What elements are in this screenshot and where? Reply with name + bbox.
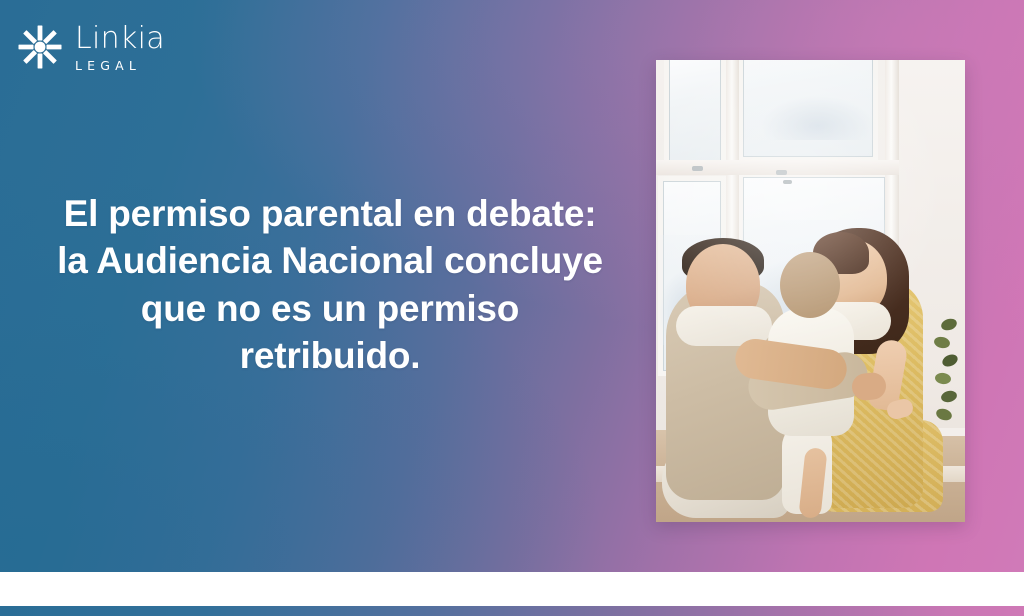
window-handle-c xyxy=(783,180,792,184)
child-head xyxy=(780,252,840,318)
family-photo-content xyxy=(656,60,965,522)
window-handle-a xyxy=(692,166,703,171)
window-pane-top-middle xyxy=(738,60,878,162)
brand-tagline: LEGAL xyxy=(75,60,165,73)
white-separator-band xyxy=(0,572,1024,606)
brand-wordmark: Linkia LEGAL xyxy=(75,22,165,73)
asterisk-starburst-icon xyxy=(18,25,62,69)
bottom-gradient-strip xyxy=(0,606,1024,616)
brand-name: Linkia xyxy=(75,24,165,54)
brand-logo[interactable]: Linkia LEGAL xyxy=(18,22,165,73)
social-card: Linkia LEGAL El permiso parental en deba… xyxy=(0,0,1024,616)
family-group xyxy=(656,222,965,522)
page-title: El permiso parental en debate: la Audien… xyxy=(52,190,608,379)
window-pane-top-left xyxy=(664,60,726,166)
family-photo xyxy=(656,60,965,522)
window-handle-b xyxy=(776,170,787,175)
